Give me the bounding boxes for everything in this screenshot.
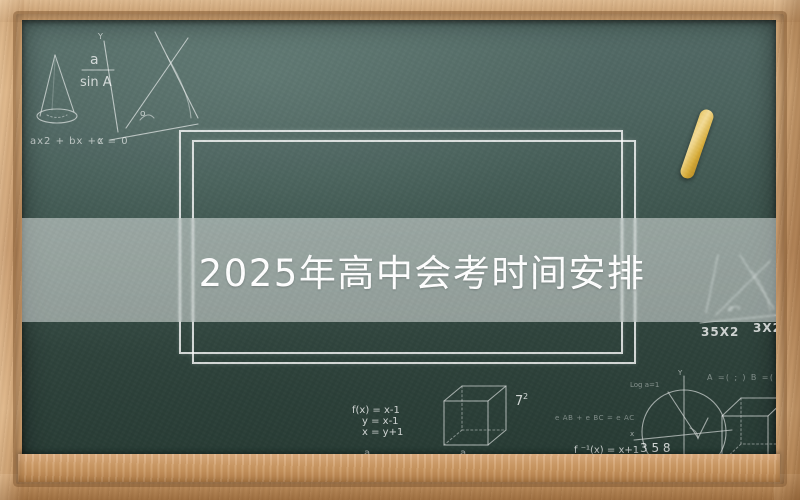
chalkboard-banner-image: a sin A ax2 + bx +c = 0 xyxy=(0,0,800,500)
frame-inner-shadow xyxy=(16,14,784,484)
